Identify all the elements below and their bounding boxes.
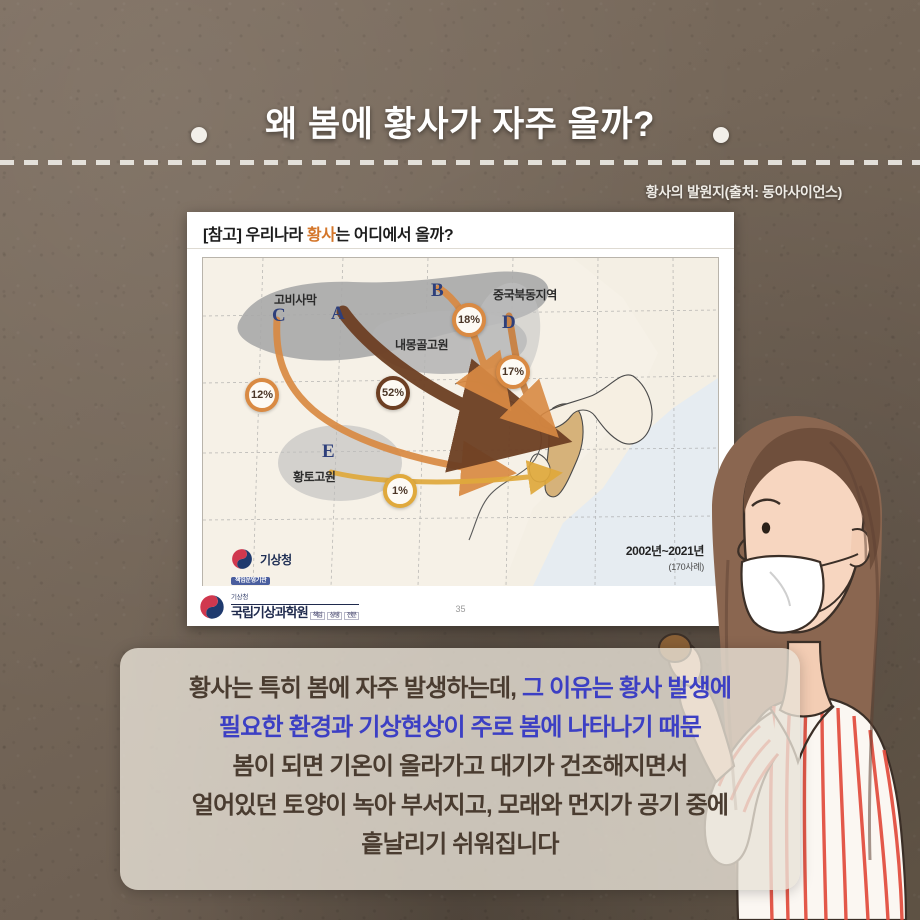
body-seg-0-0: 황사는 특히 봄에 자주 발생하는데, [189, 675, 522, 702]
footer-chip-1: 상생 [327, 612, 342, 620]
kma-label: 기상청 [260, 551, 292, 568]
mask-fold [770, 572, 790, 606]
mask-strap-lower [818, 572, 854, 612]
description-panel: 황사는 특히 봄에 자주 발생하는데, 그 이유는 황사 발생에 필요한 환경과… [120, 648, 800, 890]
slide-image: [참고] 우리나라 황사는 어디에서 올까? [187, 212, 734, 626]
slide-title-prefix: [참고] 우리나라 [203, 227, 307, 244]
body-line-0: 황사는 특히 봄에 자주 발생하는데, 그 이유는 황사 발생에 [138, 670, 782, 709]
kma-logo: 기상청 [231, 548, 292, 570]
face [744, 432, 864, 632]
eyebrow [752, 500, 780, 506]
slide-page-number: 35 [455, 604, 465, 614]
taegeuk-icon-footer [199, 594, 225, 620]
map-source-D: D [502, 312, 516, 334]
body-line-3: 얼어있던 토양이 녹아 부서지고, 모래와 먼지가 공기 중에 [138, 787, 782, 826]
map-canvas: 고비사막 내몽골고원 중국북동지역 황토고원 A B C D E 18% 17%… [203, 258, 718, 586]
map-percent-1: 1% [383, 474, 417, 508]
map-label-inner-mongolia: 내몽골고원 [395, 336, 448, 353]
map-label-loess: 황토고원 [293, 468, 336, 485]
face-mask [742, 556, 824, 633]
nose [738, 540, 746, 560]
ear [850, 529, 870, 566]
map-percent-18: 18% [452, 303, 486, 337]
nims-text-block: 책임운영기관 기상청 국립기상과학원책임상생전문 [231, 570, 359, 620]
asia-dust-origin-map: 고비사막 내몽골고원 중국북동지역 황토고원 A B C D E 18% 17%… [202, 257, 719, 587]
map-source-C: C [272, 305, 286, 327]
footer-agency: 기상청 [231, 594, 248, 601]
map-percent-52: 52% [376, 376, 410, 410]
dashed-divider [0, 160, 920, 165]
page-title: 왜 봄에 황사가 자주 올까? [265, 96, 655, 147]
hair-front [744, 428, 881, 570]
body-seg-0-1: 그 이유는 황사 발생에 [522, 675, 731, 702]
body-line-2: 봄이 되면 기온이 올라가고 대기가 건조해지면서 [138, 748, 782, 787]
body-seg-2-0: 봄이 되면 기온이 올라가고 대기가 건조해지면서 [233, 753, 688, 780]
source-caption: 황사의 발원지(출처: 동아사이언스) [646, 182, 842, 202]
slide-footer: 책임운영기관 기상청 국립기상과학원책임상생전문 35 [187, 586, 734, 626]
body-line-1: 필요한 환경과 기상현상이 주로 봄에 나타나기 때문 [138, 709, 782, 748]
footer-chip-2: 전문 [344, 612, 359, 620]
period-range: 2002년~2021년 [626, 542, 704, 559]
map-percent-17: 17% [496, 355, 530, 389]
footer-tag: 책임운영기관 [231, 577, 270, 585]
taegeuk-icon [231, 548, 253, 570]
title-bar: 왜 봄에 황사가 자주 올까? [0, 96, 920, 147]
nims-logo: 책임운영기관 기상청 국립기상과학원책임상생전문 [199, 570, 359, 620]
title-dot-left-icon [191, 127, 207, 143]
title-dot-right-icon [713, 127, 729, 143]
map-source-E: E [322, 441, 335, 463]
map-source-A: A [331, 303, 345, 325]
body-line-4: 흩날리기 쉬워집니다 [138, 826, 782, 865]
period-case-count: (170사례) [626, 560, 704, 573]
hair-strand-2 [830, 442, 866, 560]
slide-title-highlight: 황사 [307, 227, 336, 244]
mask-strap [820, 554, 858, 566]
card-news-root: 왜 봄에 황사가 자주 올까? 황사의 발원지(출처: 동아사이언스) [참고]… [0, 0, 920, 920]
body-seg-3-0: 얼어있던 토양이 녹아 부서지고, 모래와 먼지가 공기 중에 [192, 792, 728, 819]
slide-title-suffix: 는 어디에서 올까? [336, 227, 454, 244]
body-seg-4-0: 흩날리기 쉬워집니다 [361, 831, 558, 858]
eye [762, 522, 770, 533]
map-period: 2002년~2021년 (170사례) [626, 542, 704, 573]
slide-title: [참고] 우리나라 황사는 어디에서 올까? [203, 221, 453, 245]
map-label-northeast-china: 중국북동지역 [493, 286, 557, 303]
body-seg-1-0: 필요한 환경과 기상현상이 주로 봄에 나타나기 때문 [219, 714, 701, 741]
map-percent-12: 12% [245, 378, 279, 412]
footer-institute-label: 국립기상과학원 [231, 605, 308, 620]
footer-institute: 국립기상과학원책임상생전문 [231, 604, 359, 620]
hair-strand-1 [860, 486, 877, 860]
footer-chip-0: 책임 [310, 612, 325, 620]
map-source-B: B [431, 280, 444, 302]
